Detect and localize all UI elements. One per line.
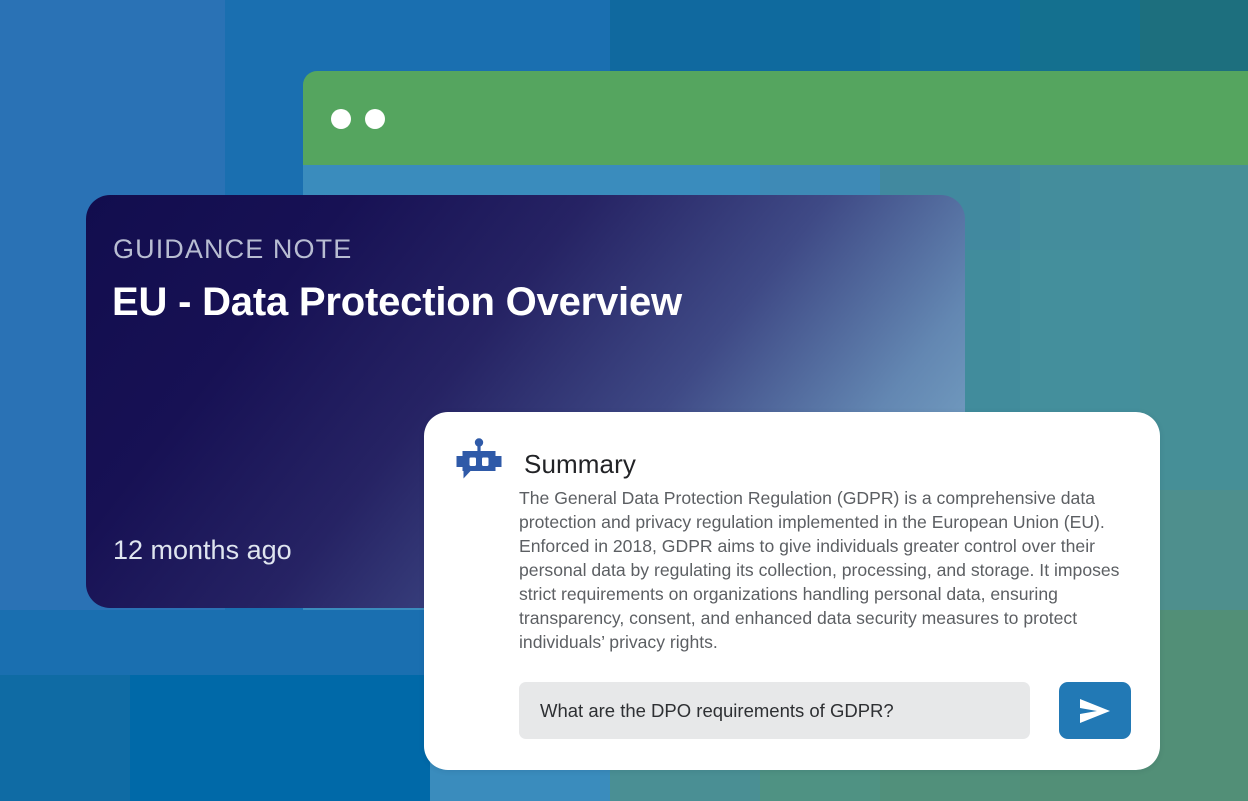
background-tile bbox=[1140, 0, 1248, 71]
summary-card: Summary The General Data Protection Regu… bbox=[424, 412, 1160, 770]
guidance-note-title: EU - Data Protection Overview bbox=[112, 280, 682, 325]
window-dot-one-icon[interactable] bbox=[331, 109, 351, 129]
background-tile bbox=[225, 610, 430, 675]
send-paper-plane-icon bbox=[1078, 697, 1112, 725]
background-tile bbox=[760, 0, 880, 71]
background-tile bbox=[1020, 0, 1140, 71]
background-tile bbox=[300, 675, 430, 801]
background-tile bbox=[0, 0, 75, 250]
background-tile bbox=[0, 610, 225, 675]
background-tile bbox=[610, 0, 760, 71]
background-tile bbox=[880, 0, 1020, 71]
background-tile bbox=[75, 0, 225, 165]
background-tile bbox=[130, 675, 300, 801]
summary-header: Summary bbox=[455, 437, 636, 485]
background-tile bbox=[0, 675, 130, 801]
summary-title: Summary bbox=[524, 451, 636, 477]
question-composer bbox=[519, 682, 1131, 739]
guidance-note-eyebrow: GUIDANCE NOTE bbox=[113, 234, 352, 265]
window-title-bar bbox=[303, 71, 1248, 165]
question-input[interactable] bbox=[519, 682, 1030, 739]
guidance-note-timestamp: 12 months ago bbox=[113, 535, 292, 566]
window-controls bbox=[331, 109, 385, 129]
send-button[interactable] bbox=[1059, 682, 1131, 739]
summary-body-text: The General Data Protection Regulation (… bbox=[519, 486, 1125, 654]
background-tile bbox=[430, 0, 610, 71]
screenshot-canvas: GUIDANCE NOTE EU - Data Protection Overv… bbox=[0, 0, 1248, 801]
window-dot-two-icon[interactable] bbox=[365, 109, 385, 129]
background-tile bbox=[1020, 165, 1140, 250]
background-tile bbox=[1140, 165, 1248, 250]
robot-chat-icon bbox=[455, 437, 503, 485]
